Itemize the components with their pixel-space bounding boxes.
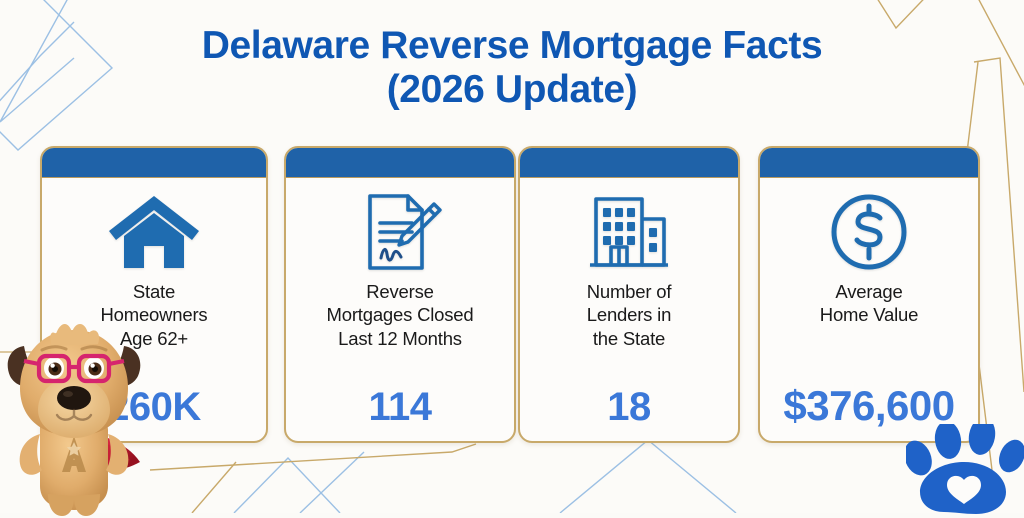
- card-label: ReverseMortgages ClosedLast 12 Months: [325, 280, 476, 350]
- stat-card-home-value[interactable]: AverageHome Value $376,600: [758, 146, 980, 443]
- bottom-accent-lines: [234, 440, 736, 513]
- title-line-2: (2026 Update): [0, 68, 1024, 112]
- card-label: AverageHome Value: [818, 280, 920, 327]
- page-title: Delaware Reverse Mortgage Facts (2026 Up…: [0, 24, 1024, 111]
- card-header-bar: [286, 148, 514, 178]
- card-value: 18: [607, 387, 651, 427]
- card-value: $376,600: [783, 385, 954, 427]
- stat-card-mortgages-closed[interactable]: ReverseMortgages ClosedLast 12 Months 11…: [284, 146, 516, 443]
- card-value: 114: [368, 387, 431, 427]
- house-icon: [106, 190, 202, 274]
- title-line-1: Delaware Reverse Mortgage Facts: [0, 24, 1024, 68]
- paw-print-with-heart-icon: [906, 424, 1024, 516]
- card-body: Number ofLenders inthe State 18: [520, 178, 738, 441]
- superhero-dog-mascot: [0, 318, 154, 518]
- head: [20, 324, 128, 438]
- card-header-bar: [520, 148, 738, 178]
- card-header-bar: [42, 148, 266, 178]
- dollar-circle-icon: [828, 190, 910, 274]
- card-header-bar: [760, 148, 978, 178]
- bottom-gold-lines: [150, 444, 476, 513]
- stat-card-row: StateHomeownersAge 62+ 260K: [40, 146, 980, 443]
- card-body: AverageHome Value $376,600: [760, 178, 978, 441]
- signed-document-pen-icon: [358, 190, 442, 274]
- stat-card-lenders[interactable]: Number ofLenders inthe State 18: [518, 146, 740, 443]
- infographic-canvas: Delaware Reverse Mortgage Facts (2026 Up…: [0, 0, 1024, 513]
- card-body: ReverseMortgages ClosedLast 12 Months 11…: [286, 178, 514, 441]
- office-building-icon: [586, 190, 672, 274]
- card-label: Number ofLenders inthe State: [585, 280, 674, 350]
